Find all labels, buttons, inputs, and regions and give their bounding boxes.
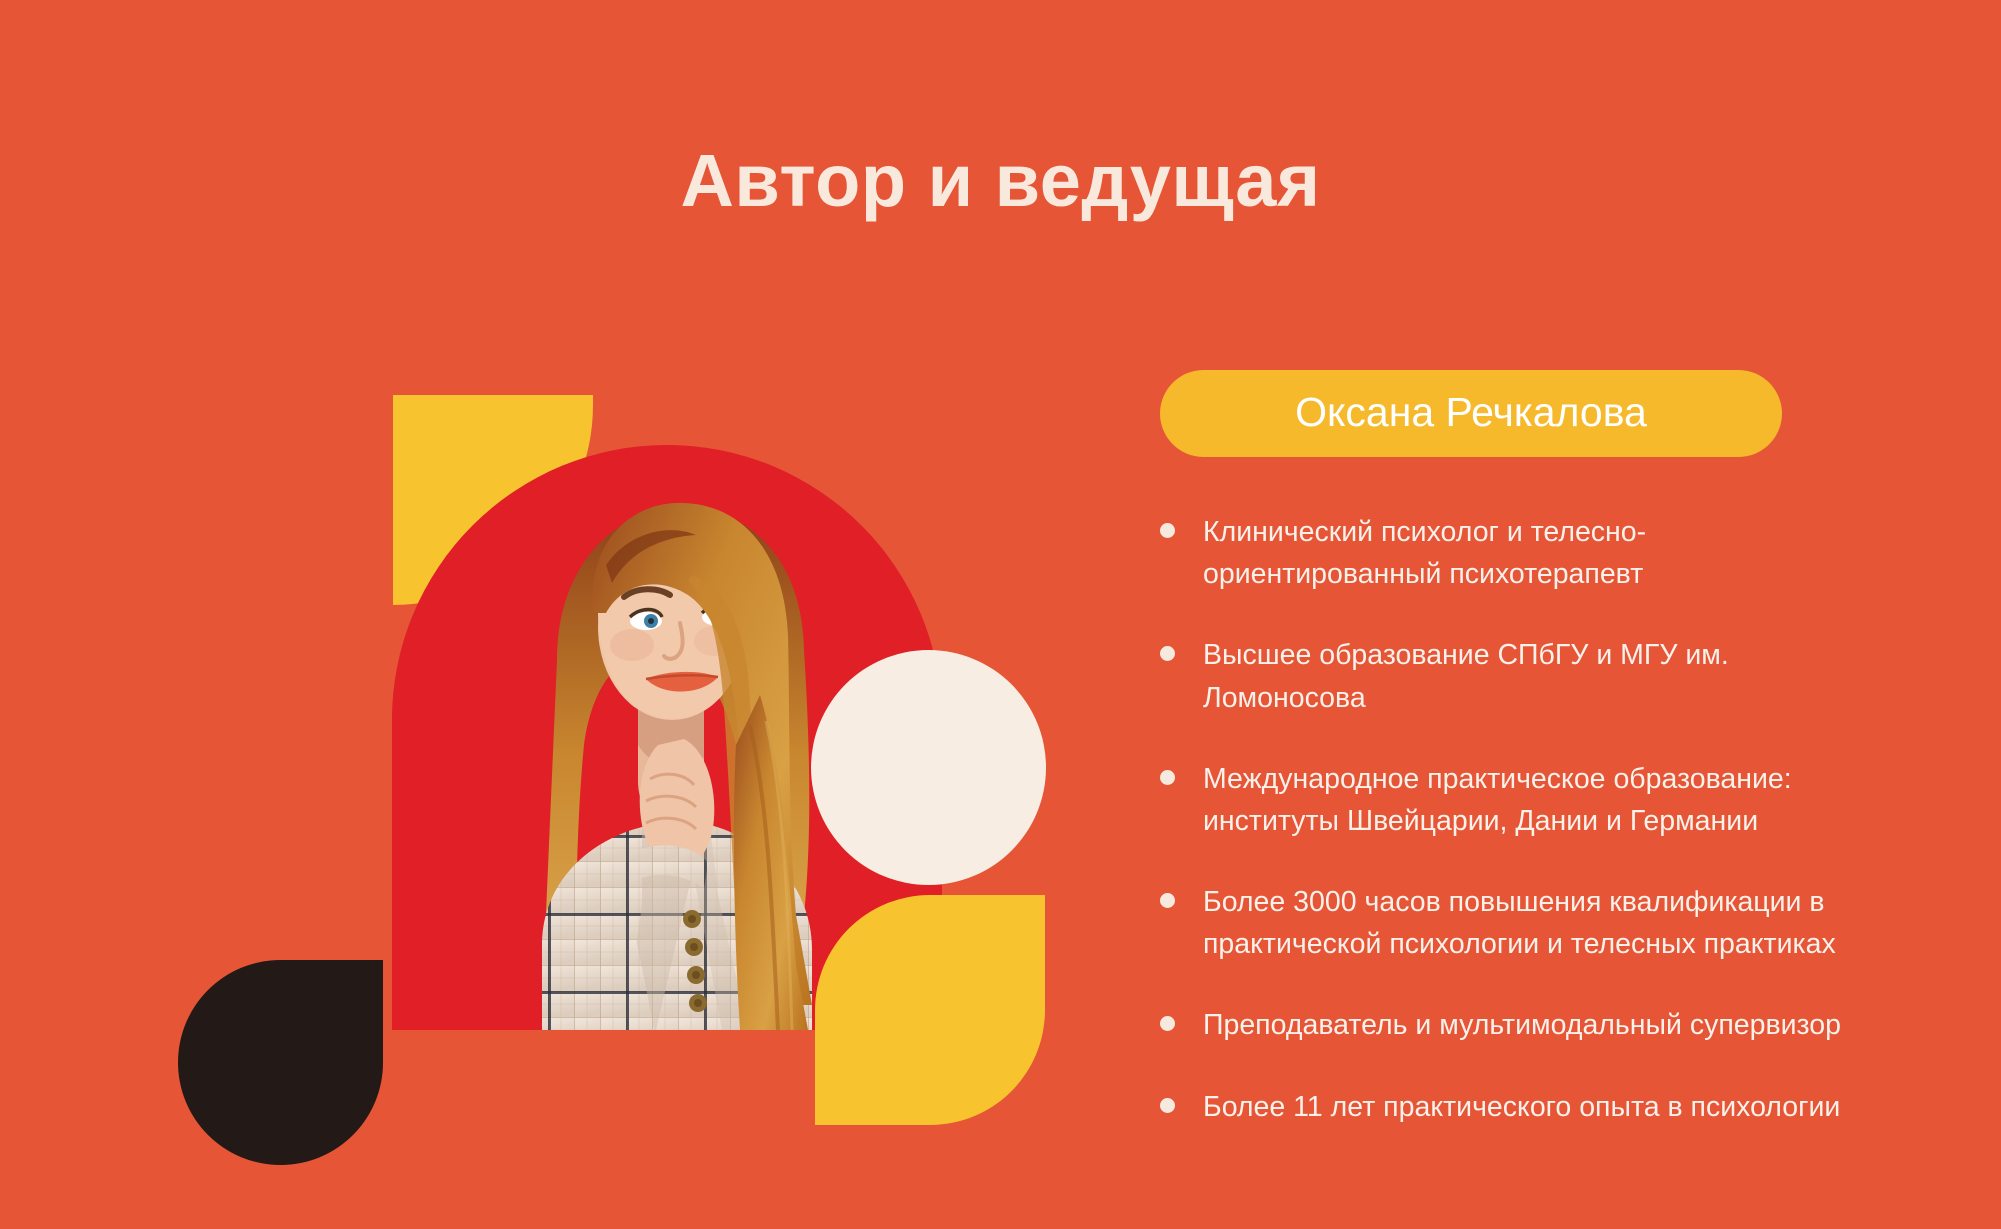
bullet-dot-icon bbox=[1160, 893, 1175, 908]
bullet-dot-icon bbox=[1160, 770, 1175, 785]
list-item-label: Клинический психолог и телесно-ориентиро… bbox=[1203, 516, 1646, 590]
bullet-dot-icon bbox=[1160, 1098, 1175, 1113]
list-item: Международное практическое образование: … bbox=[1160, 758, 1860, 842]
list-item: Высшее образование СПбГУ и МГУ им. Ломон… bbox=[1160, 634, 1860, 718]
list-item-label: Более 11 лет практического опыта в психо… bbox=[1203, 1091, 1840, 1123]
credentials-list: Клинический психолог и телесно-ориентиро… bbox=[1160, 511, 1860, 1128]
slide-root: Автор и ведущая bbox=[0, 0, 2001, 1229]
list-item: Более 3000 часов повышения квалификации … bbox=[1160, 881, 1860, 965]
list-item-label: Международное практическое образование: … bbox=[1203, 763, 1792, 837]
page-title: Автор и ведущая bbox=[0, 142, 2001, 220]
bullet-dot-icon bbox=[1160, 1016, 1175, 1031]
list-item: Преподаватель и мультимодальный супервиз… bbox=[1160, 1004, 1860, 1046]
bullet-dot-icon bbox=[1160, 523, 1175, 538]
list-item: Более 11 лет практического опыта в психо… bbox=[1160, 1086, 1860, 1128]
list-item-label: Более 3000 часов повышения квалификации … bbox=[1203, 886, 1836, 960]
list-item-label: Преподаватель и мультимодальный супервиз… bbox=[1203, 1009, 1841, 1041]
cream-circle-shape bbox=[811, 650, 1046, 885]
black-circle-shape bbox=[178, 960, 383, 1165]
author-info-column: Оксана Речкалова Клинический психолог и … bbox=[1160, 370, 1860, 1128]
list-item-label: Высшее образование СПбГУ и МГУ им. Ломон… bbox=[1203, 639, 1729, 713]
author-name-badge: Оксана Речкалова bbox=[1160, 370, 1782, 457]
yellow-leaf-shape bbox=[815, 895, 1045, 1125]
list-item: Клинический психолог и телесно-ориентиро… bbox=[1160, 511, 1860, 595]
bullet-dot-icon bbox=[1160, 646, 1175, 661]
author-collage bbox=[150, 350, 1100, 1160]
